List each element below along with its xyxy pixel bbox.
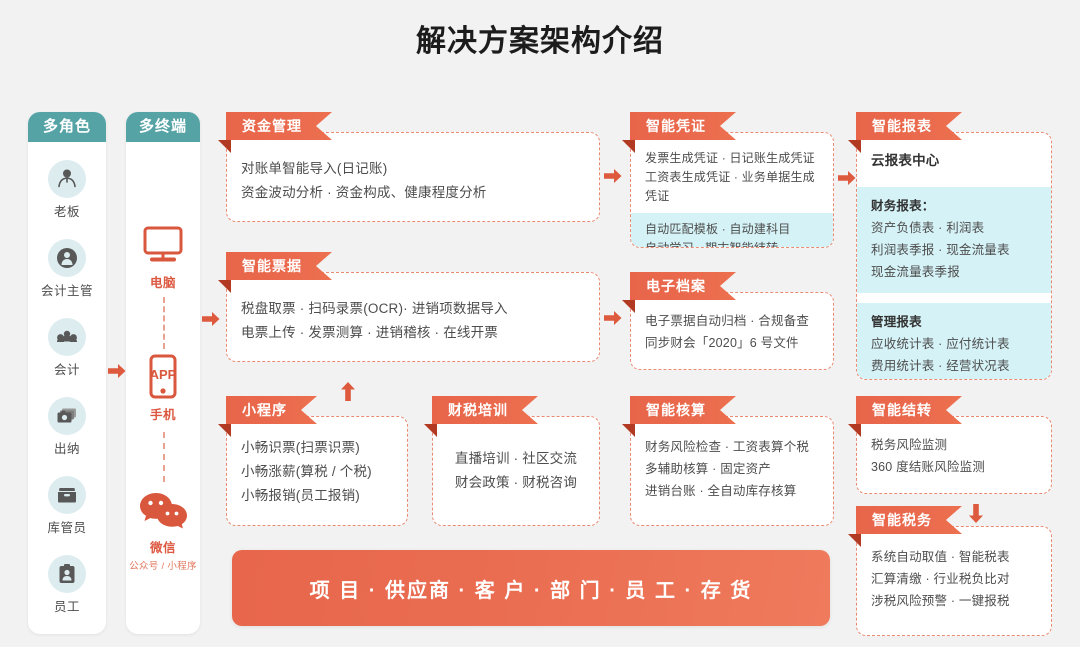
card-ribbon: 电子档案 [630, 272, 736, 300]
card-line: 工资表生成凭证 · 业务单据生成凭证 [645, 168, 819, 206]
card-line: 应收账龄表 [871, 377, 1037, 380]
card-line: 费用统计表 · 经营状况表 [871, 355, 1037, 377]
role-item-accountant[interactable]: 会计 [28, 318, 106, 378]
card-line: 电票上传 · 发票测算 · 进销稽核 · 在线开票 [241, 321, 585, 345]
terminal-item-mobile[interactable]: APP 手机 [126, 354, 200, 423]
card-line: 进销台账 · 全自动库存核算 [645, 480, 819, 502]
roles-panel-body: 老板 会计主管 [28, 142, 106, 634]
terminal-sublabel: 公众号 / 小程序 [126, 558, 200, 572]
role-label: 出纳 [28, 438, 106, 457]
role-item-accounting-manager[interactable]: 会计主管 [28, 239, 106, 299]
wechat-icon [126, 487, 200, 533]
warehouse-keeper-icon [48, 476, 86, 514]
card-line: 对账单智能导入(日记账) [241, 157, 585, 181]
svg-text:APP: APP [150, 367, 177, 382]
card-line: 汇算清缴 · 行业税负比对 [871, 568, 1037, 590]
role-label: 会计 [28, 359, 106, 378]
ribbon-fold [622, 300, 635, 313]
card-text: 小畅识票(扫票识票) 小畅涨薪(算税 / 个税) 小畅报销(员工报销) [227, 417, 407, 508]
card-text: 税务风险监测 360 度结账风险监测 [857, 417, 1051, 478]
card-line: 小畅报销(员工报销) [241, 484, 393, 508]
ribbon-fold [218, 424, 231, 437]
accountant-icon [48, 318, 86, 356]
card-text: 电子票据自动归档 · 合规备查 同步财会「2020」6 号文件 [631, 293, 833, 354]
terminal-label: 微信 [126, 537, 200, 556]
card-mini-program: 小程序 小畅识票(扫票识票) 小畅涨薪(算税 / 个税) 小畅报销(员工报销) [218, 396, 408, 526]
card-line: 利润表季报 · 现金流量表 [871, 239, 1037, 261]
card-line: 小畅识票(扫票识票) [241, 436, 393, 460]
card-line: 财会政策 · 财税咨询 [447, 471, 585, 495]
card-line: 系统自动取值 · 智能税表 [871, 546, 1037, 568]
card-subheader: 云报表中心 [871, 149, 1037, 173]
card-ribbon: 小程序 [226, 396, 317, 424]
card-text: 财务风险检查 · 工资表算个税 多辅助核算 · 固定资产 进销台账 · 全自动库… [631, 417, 833, 502]
card-body: 直播培训 · 社区交流 财会政策 · 财税咨询 [432, 416, 600, 526]
card-text: 直播培训 · 社区交流 财会政策 · 财税咨询 [433, 417, 599, 495]
card-smart-tax: 智能税务 系统自动取值 · 智能税表 汇算清缴 · 行业税负比对 涉税风险预警 … [848, 506, 1052, 636]
desktop-monitor-icon [126, 222, 200, 268]
card-line: 资金波动分析 · 资金构成、健康程度分析 [241, 181, 585, 205]
card-body: 财务风险检查 · 工资表算个税 多辅助核算 · 固定资产 进销台账 · 全自动库… [630, 416, 834, 526]
mobile-app-icon: APP [126, 354, 200, 400]
card-text-blue: 自动匹配模板 · 自动建科目 自动学习 · 期末智能结转 [631, 213, 833, 248]
terminal-item-desktop[interactable]: 电脑 [126, 222, 200, 291]
ribbon-fold [424, 424, 437, 437]
roles-panel-header: 多角色 [28, 112, 106, 142]
card-group-financial: 财务报表： 资产负债表 · 利润表 利润表季报 · 现金流量表 现金流量表季报 [857, 187, 1051, 293]
card-text: 对账单智能导入(日记账) 资金波动分析 · 资金构成、健康程度分析 [227, 133, 599, 205]
card-smart-carryover: 智能结转 税务风险监测 360 度结账风险监测 [848, 396, 1052, 494]
card-body: 税盘取票 · 扫码录票(OCR)· 进销项数据导入 电票上传 · 发票测算 · … [226, 272, 600, 362]
terminal-label: 电脑 [126, 272, 200, 291]
card-ribbon: 智能票据 [226, 252, 332, 280]
card-smart-invoice: 智能票据 税盘取票 · 扫码录票(OCR)· 进销项数据导入 电票上传 · 发票… [218, 252, 600, 362]
card-line: 直播培训 · 社区交流 [447, 447, 585, 471]
role-label: 会计主管 [28, 280, 106, 299]
card-divider [857, 293, 1051, 303]
group-title: 管理报表 [871, 311, 1037, 333]
card-ribbon: 智能税务 [856, 506, 962, 534]
card-group-management: 管理报表 应收统计表 · 应付统计表 费用统计表 · 经营状况表 应收账龄表 [857, 303, 1051, 380]
arrow-roles-to-terminals [108, 363, 126, 379]
boss-icon [48, 160, 86, 198]
terminals-panel: 多终端 电脑 APP [126, 112, 200, 634]
terminal-item-wechat[interactable]: 微信 公众号 / 小程序 [126, 487, 200, 572]
card-line: 多辅助核算 · 固定资产 [645, 458, 819, 480]
card-header-text: 云报表中心 [857, 133, 1051, 187]
role-item-boss[interactable]: 老板 [28, 160, 106, 220]
terminal-connector-1 [163, 297, 165, 349]
ribbon-fold [622, 424, 635, 437]
card-ribbon: 智能结转 [856, 396, 962, 424]
card-smart-voucher: 智能凭证 发票生成凭证 · 日记账生成凭证 工资表生成凭证 · 业务单据生成凭证… [622, 112, 834, 248]
page-title: 解决方案架构介绍 [0, 16, 1080, 60]
accounting-manager-icon [48, 239, 86, 277]
card-line: 涉税风险预警 · 一键报税 [871, 590, 1037, 612]
card-body: 云报表中心 财务报表： 资产负债表 · 利润表 利润表季报 · 现金流量表 现金… [856, 132, 1052, 380]
group-title: 财务报表： [871, 195, 1037, 217]
card-smart-report: 智能报表 云报表中心 财务报表： 资产负债表 · 利润表 利润表季报 · 现金流… [848, 112, 1052, 380]
card-e-archive: 电子档案 电子票据自动归档 · 合规备查 同步财会「2020」6 号文件 [622, 272, 834, 370]
card-line: 小畅涨薪(算税 / 个税) [241, 460, 393, 484]
card-line: 税务风险监测 [871, 434, 1037, 456]
card-ribbon: 智能报表 [856, 112, 962, 140]
card-text-white: 发票生成凭证 · 日记账生成凭证 工资表生成凭证 · 业务单据生成凭证 [631, 133, 833, 213]
card-body: 对账单智能导入(日记账) 资金波动分析 · 资金构成、健康程度分析 [226, 132, 600, 222]
arrow-fund-to-voucher [604, 168, 622, 184]
ribbon-fold [218, 280, 231, 293]
card-line: 资产负债表 · 利润表 [871, 217, 1037, 239]
card-ribbon: 财税培训 [432, 396, 538, 424]
terminal-label: 手机 [126, 404, 200, 423]
card-line: 应收统计表 · 应付统计表 [871, 333, 1037, 355]
diagram-canvas: 解决方案架构介绍 多角色 老板 [0, 0, 1080, 647]
dimensions-bar: 项 目 · 供应商 · 客 户 · 部 门 · 员 工 · 存 货 [232, 550, 830, 626]
card-body: 系统自动取值 · 智能税表 汇算清缴 · 行业税负比对 涉税风险预警 · 一键报… [856, 526, 1052, 636]
card-ribbon: 智能核算 [630, 396, 736, 424]
dimensions-bar-text: 项 目 · 供应商 · 客 户 · 部 门 · 员 工 · 存 货 [310, 574, 753, 603]
card-line: 税盘取票 · 扫码录票(OCR)· 进销项数据导入 [241, 297, 585, 321]
roles-panel: 多角色 老板 会计主管 [28, 112, 106, 634]
role-label: 老板 [28, 201, 106, 220]
ribbon-fold [848, 534, 861, 547]
ribbon-fold [848, 424, 861, 437]
card-smart-accounting: 智能核算 财务风险检查 · 工资表算个税 多辅助核算 · 固定资产 进销台账 ·… [622, 396, 834, 526]
card-line: 现金流量表季报 [871, 261, 1037, 283]
employee-icon [48, 555, 86, 593]
terminals-panel-header: 多终端 [126, 112, 200, 142]
card-line: 同步财会「2020」6 号文件 [645, 332, 819, 354]
ribbon-fold [848, 140, 861, 153]
terminal-connector-2 [163, 432, 165, 482]
terminals-panel-body: 电脑 APP 手机 [126, 142, 200, 634]
arrow-invoice-to-archive [604, 310, 622, 326]
card-line: 财务风险检查 · 工资表算个税 [645, 436, 819, 458]
ribbon-fold [218, 140, 231, 153]
card-line: 电子票据自动归档 · 合规备查 [645, 310, 819, 332]
card-body: 发票生成凭证 · 日记账生成凭证 工资表生成凭证 · 业务单据生成凭证 自动匹配… [630, 132, 834, 248]
card-ribbon: 智能凭证 [630, 112, 736, 140]
role-item-cashier[interactable]: 出纳 [28, 397, 106, 457]
card-line: 360 度结账风险监测 [871, 456, 1037, 478]
card-tax-training: 财税培训 直播培训 · 社区交流 财会政策 · 财税咨询 [424, 396, 600, 526]
card-line: 自动学习 · 期末智能结转 [645, 239, 819, 248]
role-item-warehouse-keeper[interactable]: 库管员 [28, 476, 106, 536]
ribbon-fold [622, 140, 635, 153]
card-body: 小畅识票(扫票识票) 小畅涨薪(算税 / 个税) 小畅报销(员工报销) [226, 416, 408, 526]
card-fund-management: 资金管理 对账单智能导入(日记账) 资金波动分析 · 资金构成、健康程度分析 [218, 112, 600, 222]
card-text: 系统自动取值 · 智能税表 汇算清缴 · 行业税负比对 涉税风险预警 · 一键报… [857, 527, 1051, 612]
card-body: 电子票据自动归档 · 合规备查 同步财会「2020」6 号文件 [630, 292, 834, 370]
card-ribbon: 资金管理 [226, 112, 332, 140]
card-line: 自动匹配模板 · 自动建科目 [645, 220, 819, 239]
card-body: 税务风险监测 360 度结账风险监测 [856, 416, 1052, 494]
card-line: 发票生成凭证 · 日记账生成凭证 [645, 149, 819, 168]
card-text: 税盘取票 · 扫码录票(OCR)· 进销项数据导入 电票上传 · 发票测算 · … [227, 273, 599, 345]
role-label: 员工 [28, 596, 106, 615]
role-label: 库管员 [28, 517, 106, 536]
cashier-icon [48, 397, 86, 435]
role-item-employee[interactable]: 员工 [28, 555, 106, 615]
